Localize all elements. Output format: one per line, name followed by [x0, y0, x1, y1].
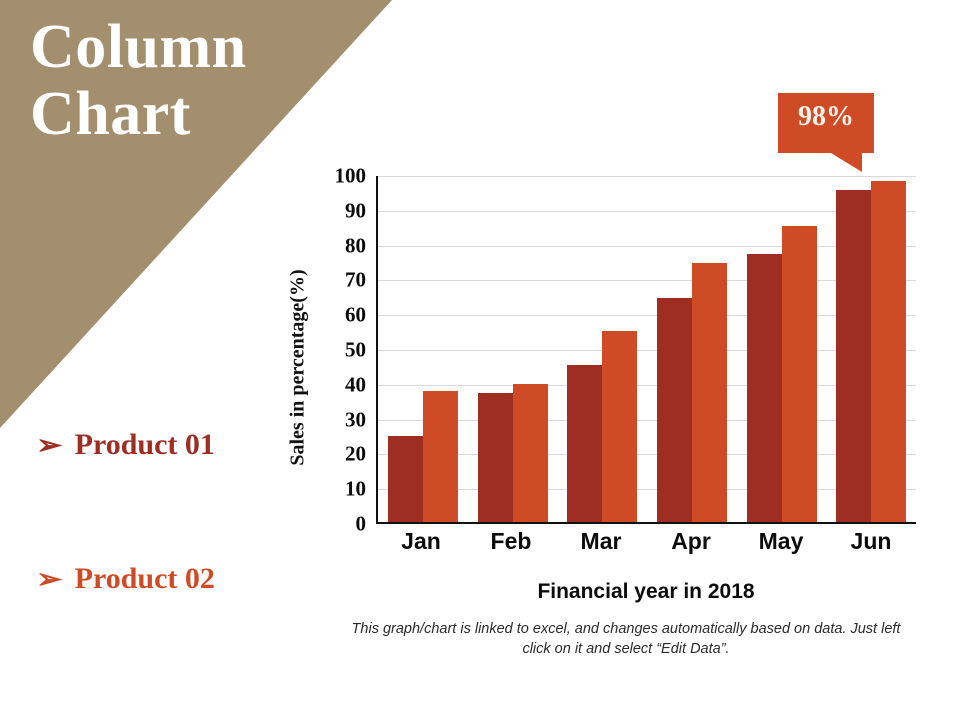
x-axis-tick-label: Apr	[646, 528, 736, 555]
bar-group	[468, 176, 558, 522]
bar-jun-series-1[interactable]	[836, 190, 871, 522]
legend-item-product-02: ➢ Product 02	[38, 562, 215, 596]
bar-group	[378, 176, 468, 522]
x-axis-tick-label: Jan	[376, 528, 466, 555]
bar-group	[737, 176, 827, 522]
y-axis-tick-label: 60	[345, 303, 366, 328]
bar-mar-series-2[interactable]	[602, 331, 637, 522]
bar-apr-series-2[interactable]	[692, 263, 727, 522]
x-axis-tick-labels: JanFebMarAprMayJun	[376, 528, 916, 555]
arrow-bullet-icon: ➢	[36, 566, 62, 593]
y-axis-tick-label: 20	[345, 442, 366, 467]
chart-footnote: This graph/chart is linked to excel, and…	[346, 620, 906, 659]
x-axis-tick-label: Feb	[466, 528, 556, 555]
bar-group	[557, 176, 647, 522]
page-title: Column Chart	[30, 14, 360, 148]
y-axis-tick-label: 80	[345, 233, 366, 258]
bar-feb-series-1[interactable]	[478, 393, 513, 522]
bar-feb-series-2[interactable]	[513, 384, 548, 523]
y-axis-tick-label: 70	[345, 268, 366, 293]
y-axis-tick-label: 0	[356, 512, 367, 537]
y-axis-tick-label: 50	[345, 338, 366, 363]
x-axis-tick-label: Jun	[826, 528, 916, 555]
legend-item-label: Product 01	[75, 428, 215, 462]
y-axis-tick-label: 100	[335, 164, 367, 189]
bar-mar-series-1[interactable]	[567, 365, 602, 522]
bars-layer	[378, 176, 916, 522]
bar-may-series-1[interactable]	[747, 254, 782, 522]
bar-group	[647, 176, 737, 522]
bar-group	[826, 176, 916, 522]
legend-item-product-01: ➢ Product 01	[38, 428, 215, 462]
bar-jun-series-2[interactable]	[871, 181, 906, 522]
y-axis-tick-labels: 0102030405060708090100	[314, 176, 370, 524]
y-axis-tick-label: 30	[345, 407, 366, 432]
legend-item-label: Product 02	[75, 562, 215, 596]
y-axis-title: Sales in percentage(%)	[284, 222, 312, 512]
bar-jan-series-2[interactable]	[423, 391, 458, 522]
y-axis-tick-label: 40	[345, 372, 366, 397]
plot-area	[376, 176, 916, 524]
x-axis-tick-label: Mar	[556, 528, 646, 555]
y-axis-tick-label: 10	[345, 477, 366, 502]
y-axis-title-text: Sales in percentage(%)	[287, 269, 310, 465]
y-axis-tick-label: 90	[345, 198, 366, 223]
x-axis-tick-label: May	[736, 528, 826, 555]
callout-bubble: 98%	[778, 93, 874, 173]
arrow-bullet-icon: ➢	[36, 432, 62, 459]
column-chart: Sales in percentage(%) 01020304050607080…	[286, 176, 946, 676]
x-axis-title: Financial year in 2018	[376, 580, 916, 604]
bar-jan-series-1[interactable]	[388, 436, 423, 522]
bar-apr-series-1[interactable]	[657, 298, 692, 522]
bar-may-series-2[interactable]	[782, 226, 817, 522]
